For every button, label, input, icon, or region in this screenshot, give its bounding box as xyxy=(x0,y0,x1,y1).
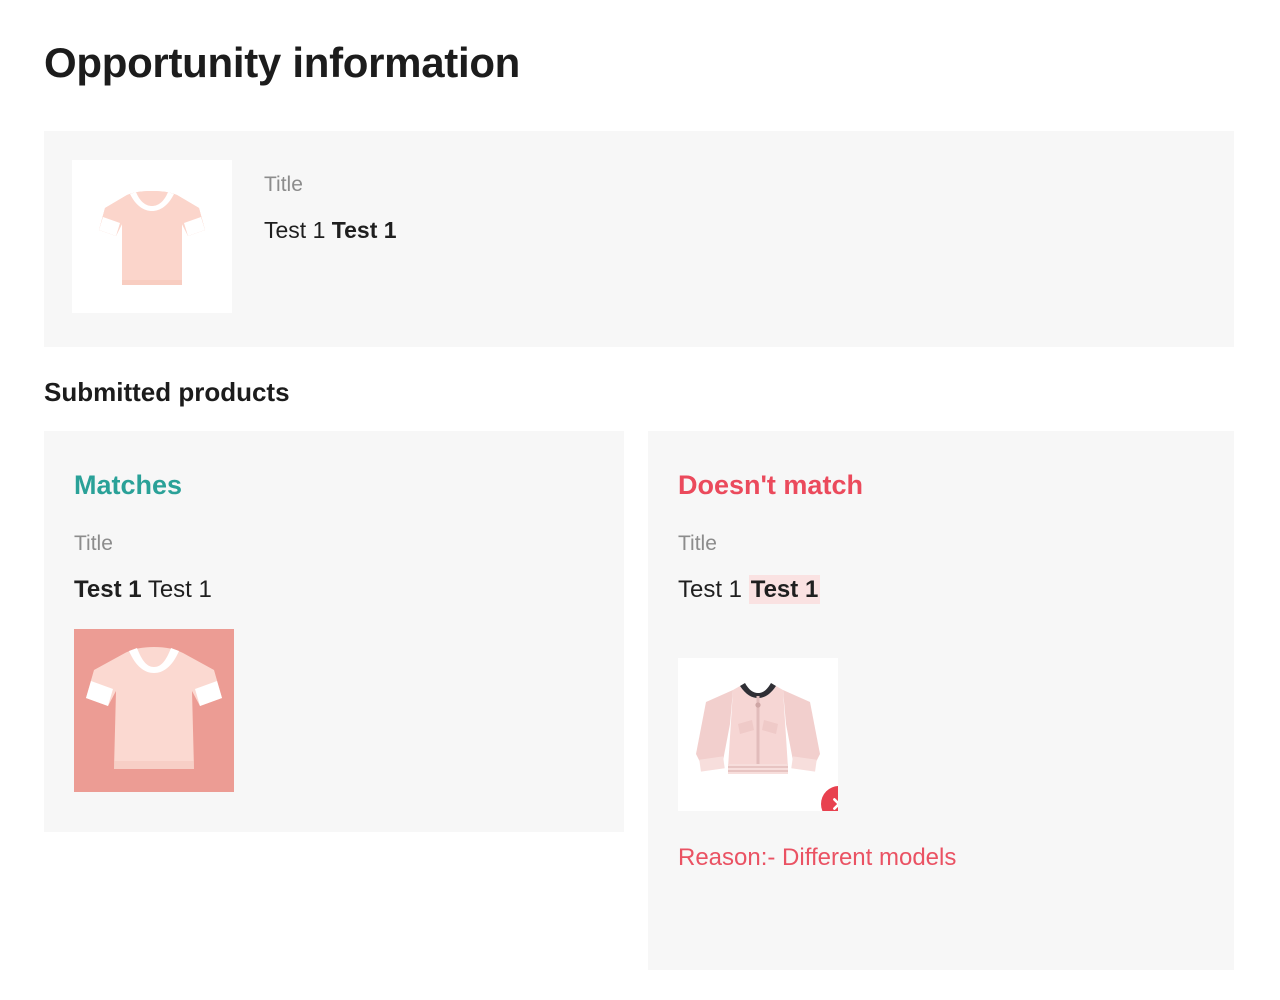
doesnt-match-panel: Doesn't match Title Test 1 Test 1 xyxy=(648,431,1234,970)
doesnt-match-heading: Doesn't match xyxy=(678,469,1204,501)
opportunity-fields: Title Test 1 Test 1 xyxy=(264,169,397,247)
matches-panel: Matches Title Test 1 Test 1 xyxy=(44,431,624,832)
matches-title-value-plain: Test 1 xyxy=(148,576,212,603)
matches-title-label: Title xyxy=(74,529,594,558)
opportunity-title-value-bold: Test 1 xyxy=(332,217,397,243)
doesnt-match-title-value-highlighted: Test 1 xyxy=(749,575,821,604)
submitted-products-title: Submitted products xyxy=(44,377,290,408)
matches-heading: Matches xyxy=(74,469,594,501)
matches-panel-inner: Matches Title Test 1 Test 1 xyxy=(44,431,624,797)
rejection-reason: Reason:- Different models xyxy=(678,842,1204,873)
matches-title-value-bold: Test 1 xyxy=(74,576,142,603)
opportunity-product-image[interactable] xyxy=(72,160,232,313)
close-x-icon xyxy=(830,795,838,811)
opportunity-card: Title Test 1 Test 1 xyxy=(44,131,1234,347)
pink-tshirt-icon xyxy=(74,629,234,792)
pink-tshirt-icon xyxy=(72,160,232,313)
opportunity-information-page: Opportunity information Title Test 1 xyxy=(0,0,1280,1000)
doesnt-match-title-value: Test 1 Test 1 xyxy=(678,573,1204,607)
doesnt-match-panel-inner: Doesn't match Title Test 1 Test 1 xyxy=(648,431,1234,874)
page-title: Opportunity information xyxy=(44,40,520,86)
doesnt-match-title-value-plain: Test 1 xyxy=(678,576,742,603)
opportunity-title-value-plain: Test 1 xyxy=(264,217,325,243)
matches-title-value: Test 1 Test 1 xyxy=(74,573,594,607)
doesnt-match-title-label: Title xyxy=(678,529,1204,558)
opportunity-title-value: Test 1 Test 1 xyxy=(264,213,397,248)
opportunity-title-label: Title xyxy=(264,169,397,201)
matched-product-image[interactable] xyxy=(74,629,234,792)
pink-bomber-jacket-icon xyxy=(678,658,838,811)
rejected-product-image[interactable] xyxy=(678,658,838,811)
